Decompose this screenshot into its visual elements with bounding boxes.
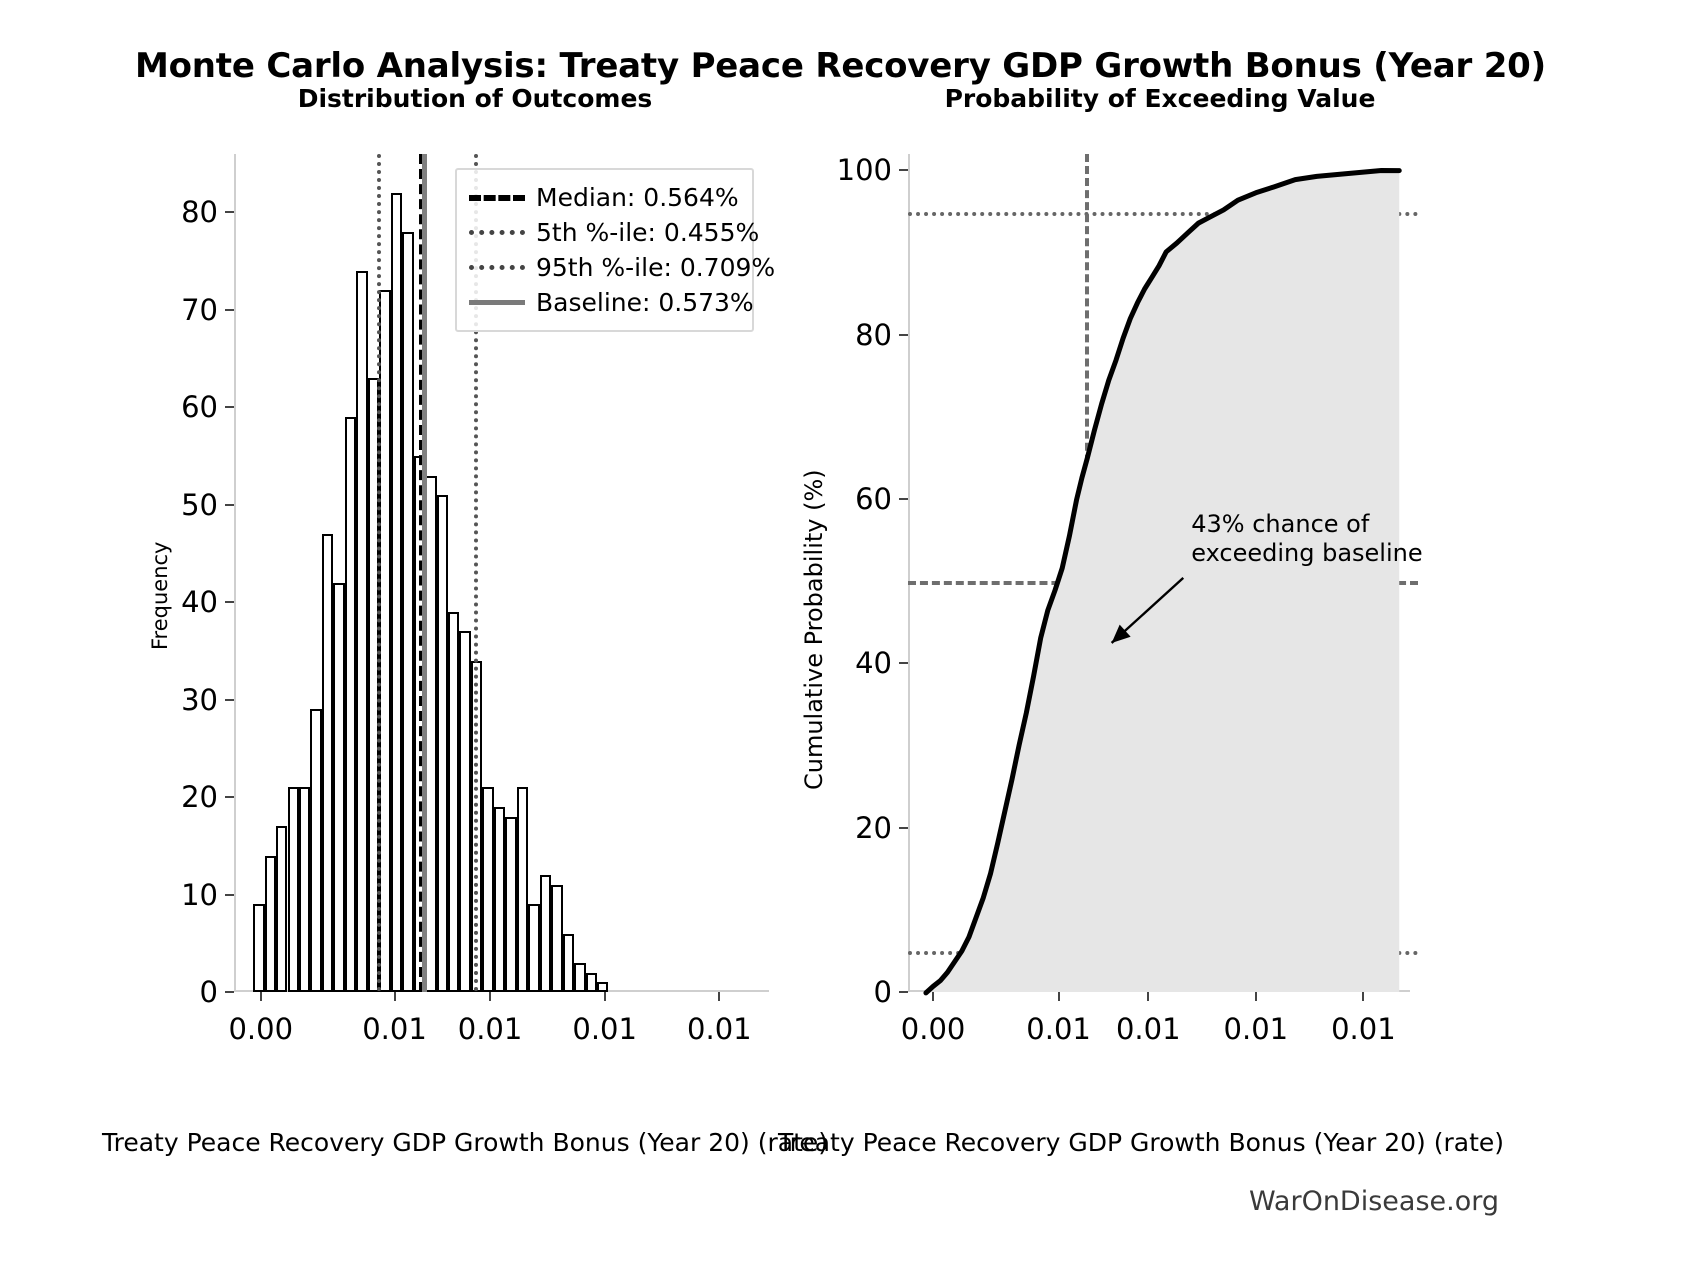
legend-item: 5th %-ile: 0.455% bbox=[469, 215, 740, 250]
y-tick-label: 20 bbox=[855, 811, 892, 845]
histogram-bar bbox=[448, 612, 459, 992]
figure-canvas: Monte Carlo Analysis: Treaty Peace Recov… bbox=[0, 0, 1681, 1280]
y-tick-mark bbox=[225, 406, 234, 408]
y-tick-mark bbox=[225, 309, 234, 311]
y-tick-mark bbox=[899, 662, 908, 664]
x-tick-mark bbox=[1147, 992, 1149, 1001]
x-tick-label: 0.00 bbox=[901, 1012, 966, 1046]
legend-item: 95th %-ile: 0.709% bbox=[469, 250, 740, 285]
y-tick-mark bbox=[225, 796, 234, 798]
cdf-axes: 020406080100 0.000.010.010.010.01 43% ch… bbox=[908, 154, 1410, 992]
y-tick-mark bbox=[225, 601, 234, 603]
x-tick-label: 0.01 bbox=[1116, 1012, 1181, 1046]
histogram-bar bbox=[437, 495, 448, 992]
y-tick-label: 30 bbox=[181, 683, 218, 717]
left-y-axis-label: Frequency bbox=[148, 542, 172, 651]
y-tick-mark bbox=[225, 991, 234, 993]
y-tick-label: 60 bbox=[181, 390, 218, 424]
y-tick-mark bbox=[899, 498, 908, 500]
x-tick-label: 0.01 bbox=[572, 1012, 637, 1046]
histogram-bar bbox=[494, 807, 505, 992]
y-tick-mark bbox=[899, 334, 908, 336]
x-tick-mark bbox=[718, 992, 720, 1001]
legend-swatch-p5 bbox=[469, 230, 525, 235]
left-x-axis-label: Treaty Peace Recovery GDP Growth Bonus (… bbox=[102, 1128, 828, 1157]
y-tick-label: 80 bbox=[855, 318, 892, 352]
legend-item: Baseline: 0.573% bbox=[469, 285, 740, 320]
right-x-axis-label: Treaty Peace Recovery GDP Growth Bonus (… bbox=[778, 1128, 1504, 1157]
y-tick-label: 0 bbox=[874, 975, 892, 1009]
annotation-arrow bbox=[908, 154, 1410, 992]
y-tick-label: 100 bbox=[837, 153, 892, 187]
left-axis-spine bbox=[234, 154, 236, 992]
histogram-bar bbox=[345, 417, 356, 992]
annotation-text: 43% chance of exceeding baseline bbox=[1191, 510, 1422, 569]
y-tick-label: 60 bbox=[855, 482, 892, 516]
x-tick-label: 0.01 bbox=[1331, 1012, 1396, 1046]
x-tick-label: 0.01 bbox=[458, 1012, 523, 1046]
legend-swatch-p95 bbox=[469, 265, 525, 270]
x-tick-mark bbox=[1255, 992, 1257, 1001]
histogram-bar bbox=[597, 982, 608, 992]
x-tick-label: 0.01 bbox=[362, 1012, 427, 1046]
x-tick-mark bbox=[604, 992, 606, 1001]
y-tick-label: 50 bbox=[181, 488, 218, 522]
legend-label-median: Median: 0.564% bbox=[536, 183, 739, 212]
histogram-bar bbox=[586, 973, 597, 992]
histogram-bar bbox=[310, 709, 321, 992]
y-tick-label: 80 bbox=[181, 195, 218, 229]
x-tick-mark bbox=[1362, 992, 1364, 1001]
legend-label-baseline: Baseline: 0.573% bbox=[536, 288, 754, 317]
y-tick-mark bbox=[225, 211, 234, 213]
legend-label-p95: 95th %-ile: 0.709% bbox=[536, 253, 775, 282]
reference-line-5th-ile bbox=[377, 154, 381, 992]
x-tick-label: 0.01 bbox=[1026, 1012, 1091, 1046]
right-panel-title: Probability of Exceeding Value bbox=[860, 84, 1460, 113]
y-tick-label: 40 bbox=[181, 585, 218, 619]
histogram-bar bbox=[459, 631, 470, 992]
histogram-bar bbox=[505, 817, 516, 992]
histogram-bar bbox=[482, 787, 493, 992]
x-tick-mark bbox=[932, 992, 934, 1001]
histogram-bar bbox=[391, 193, 402, 992]
histogram-bar bbox=[517, 787, 528, 992]
watermark: WarOnDisease.org bbox=[1249, 1186, 1499, 1217]
legend-label-p5: 5th %-ile: 0.455% bbox=[536, 218, 759, 247]
legend-box: Median: 0.564% 5th %-ile: 0.455% 95th %-… bbox=[455, 168, 754, 332]
y-tick-mark bbox=[225, 894, 234, 896]
reference-line-baseline bbox=[422, 154, 427, 992]
x-tick-mark bbox=[394, 992, 396, 1001]
x-tick-mark bbox=[260, 992, 262, 1001]
right-y-axis-label: Cumulative Probability (%) bbox=[800, 469, 828, 790]
y-tick-mark bbox=[225, 504, 234, 506]
histogram-bar bbox=[528, 904, 539, 992]
histogram-bar bbox=[333, 583, 344, 992]
histogram-bar bbox=[574, 963, 585, 992]
x-tick-label: 0.01 bbox=[1224, 1012, 1289, 1046]
y-tick-label: 10 bbox=[181, 878, 218, 912]
y-tick-mark bbox=[899, 169, 908, 171]
histogram-bar bbox=[356, 271, 367, 992]
histogram-bar bbox=[563, 934, 574, 992]
y-tick-label: 0 bbox=[200, 975, 218, 1009]
x-tick-mark bbox=[489, 992, 491, 1001]
histogram-bar bbox=[288, 787, 299, 992]
x-tick-mark bbox=[1058, 992, 1060, 1001]
histogram-bar bbox=[299, 787, 310, 992]
histogram-axes: 01020304050607080 0.000.010.010.010.01 M… bbox=[234, 154, 769, 992]
y-tick-mark bbox=[899, 991, 908, 993]
histogram-bar bbox=[540, 875, 551, 992]
figure-suptitle: Monte Carlo Analysis: Treaty Peace Recov… bbox=[0, 46, 1681, 86]
histogram-bar bbox=[276, 826, 287, 992]
histogram-bar bbox=[551, 885, 562, 992]
histogram-bar bbox=[265, 856, 276, 992]
histogram-bar bbox=[402, 232, 413, 992]
y-tick-mark bbox=[225, 699, 234, 701]
histogram-bar bbox=[253, 904, 264, 992]
x-tick-label: 0.00 bbox=[228, 1012, 293, 1046]
y-tick-label: 70 bbox=[181, 293, 218, 327]
histogram-bar bbox=[322, 534, 333, 992]
legend-swatch-baseline bbox=[469, 300, 525, 305]
y-tick-label: 20 bbox=[181, 780, 218, 814]
legend-swatch-median bbox=[469, 195, 525, 201]
y-tick-label: 40 bbox=[855, 646, 892, 680]
legend-item: Median: 0.564% bbox=[469, 180, 740, 215]
x-tick-label: 0.01 bbox=[687, 1012, 752, 1046]
left-panel-title: Distribution of Outcomes bbox=[180, 84, 770, 113]
y-tick-mark bbox=[899, 827, 908, 829]
